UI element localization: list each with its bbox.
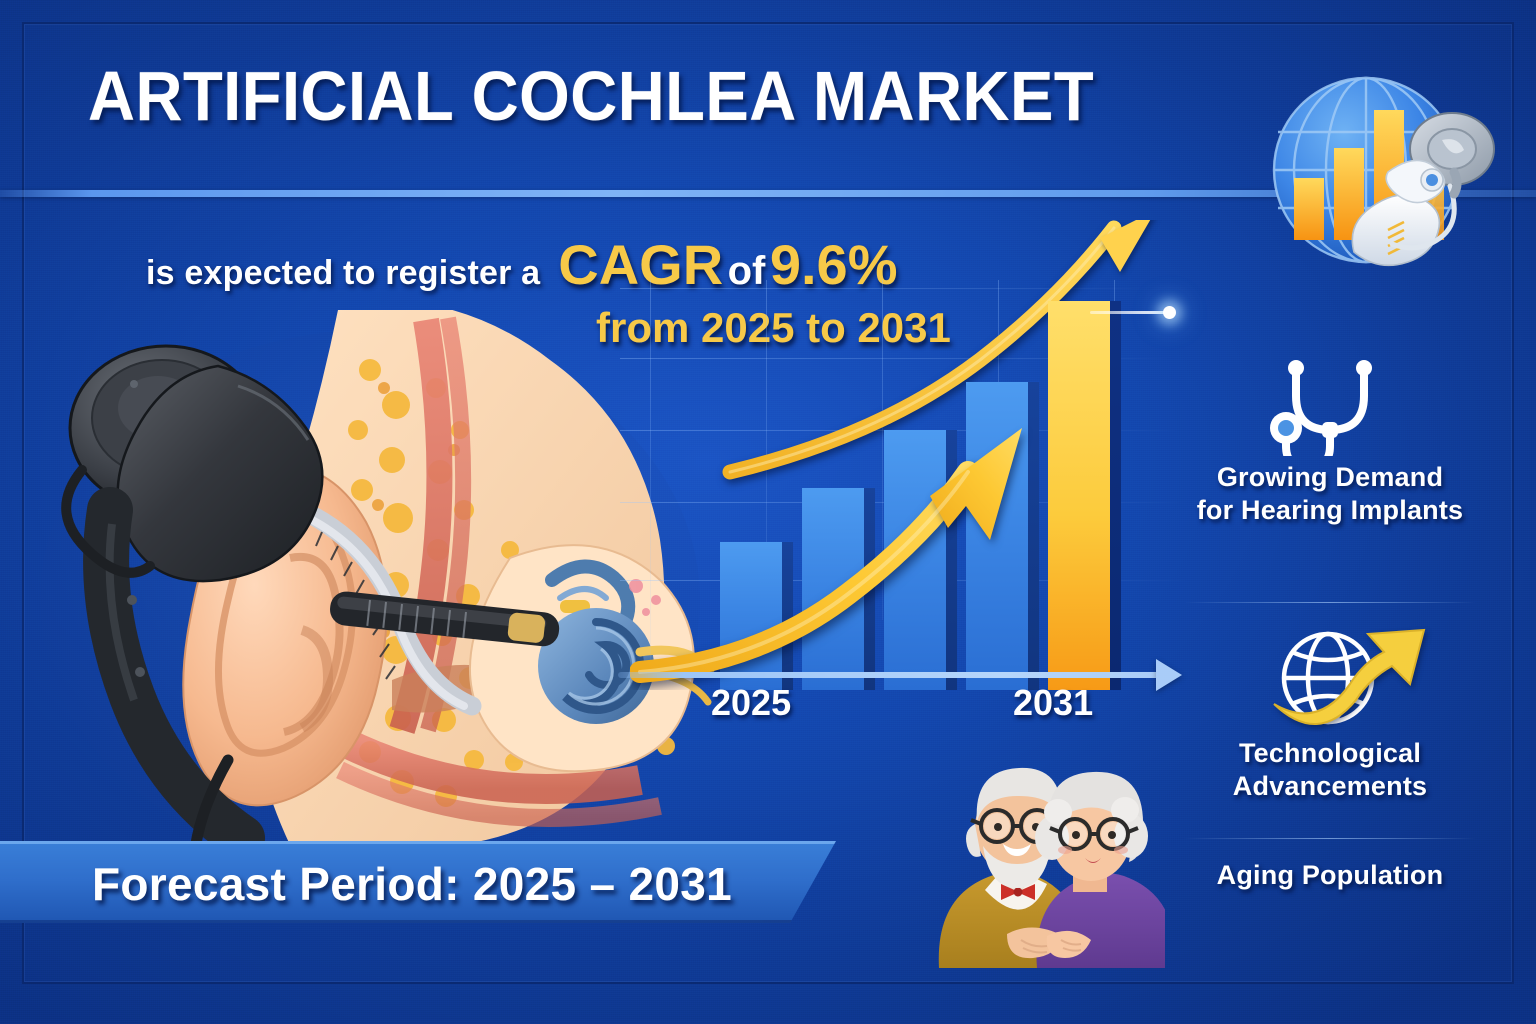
driver-divider-1 <box>1184 602 1476 603</box>
forecast-period-label: Forecast Period: 2025 – 2031 <box>92 857 732 911</box>
globe-arrow-icon <box>1170 622 1490 732</box>
driver-label-line1: Technological <box>1170 737 1490 770</box>
page-title: ARTIFICIAL COCHLEA MARKET <box>88 57 1094 135</box>
elderly-couple-illustration <box>925 728 1165 968</box>
stethoscope-icon <box>1170 346 1490 456</box>
highlight-dot <box>1163 306 1176 319</box>
driver-growing-demand: Growing Demand for Hearing Implants <box>1170 346 1490 527</box>
driver-label-line2: for Hearing Implants <box>1170 494 1490 527</box>
driver-divider-2 <box>1184 838 1476 839</box>
driver-label-line1: Aging Population <box>1170 859 1490 892</box>
subtitle-lead: is expected to register a <box>146 254 540 292</box>
driver-aging-population: Aging Population <box>1170 859 1490 892</box>
market-drivers-panel: Growing Demand for Hearing Implants Tech… <box>1170 346 1490 936</box>
highlight-connector-line <box>1090 311 1168 314</box>
chart-x-axis <box>618 672 1168 678</box>
axis-tick-end: 2031 <box>1013 682 1093 724</box>
driver-technological-advancements: Technological Advancements <box>1170 622 1490 803</box>
market-growth-bar-chart <box>620 280 1190 690</box>
driver-label-line2: Advancements <box>1170 770 1490 803</box>
driver-label-line1: Growing Demand <box>1170 461 1490 494</box>
globe-bar-chart-cochlear-implant-icon <box>1236 52 1526 292</box>
growth-arrow-annotation <box>630 400 1090 690</box>
axis-tick-start: 2025 <box>711 682 791 724</box>
infographic-canvas: ARTIFICIAL COCHLEA MARKET <box>0 0 1536 1024</box>
